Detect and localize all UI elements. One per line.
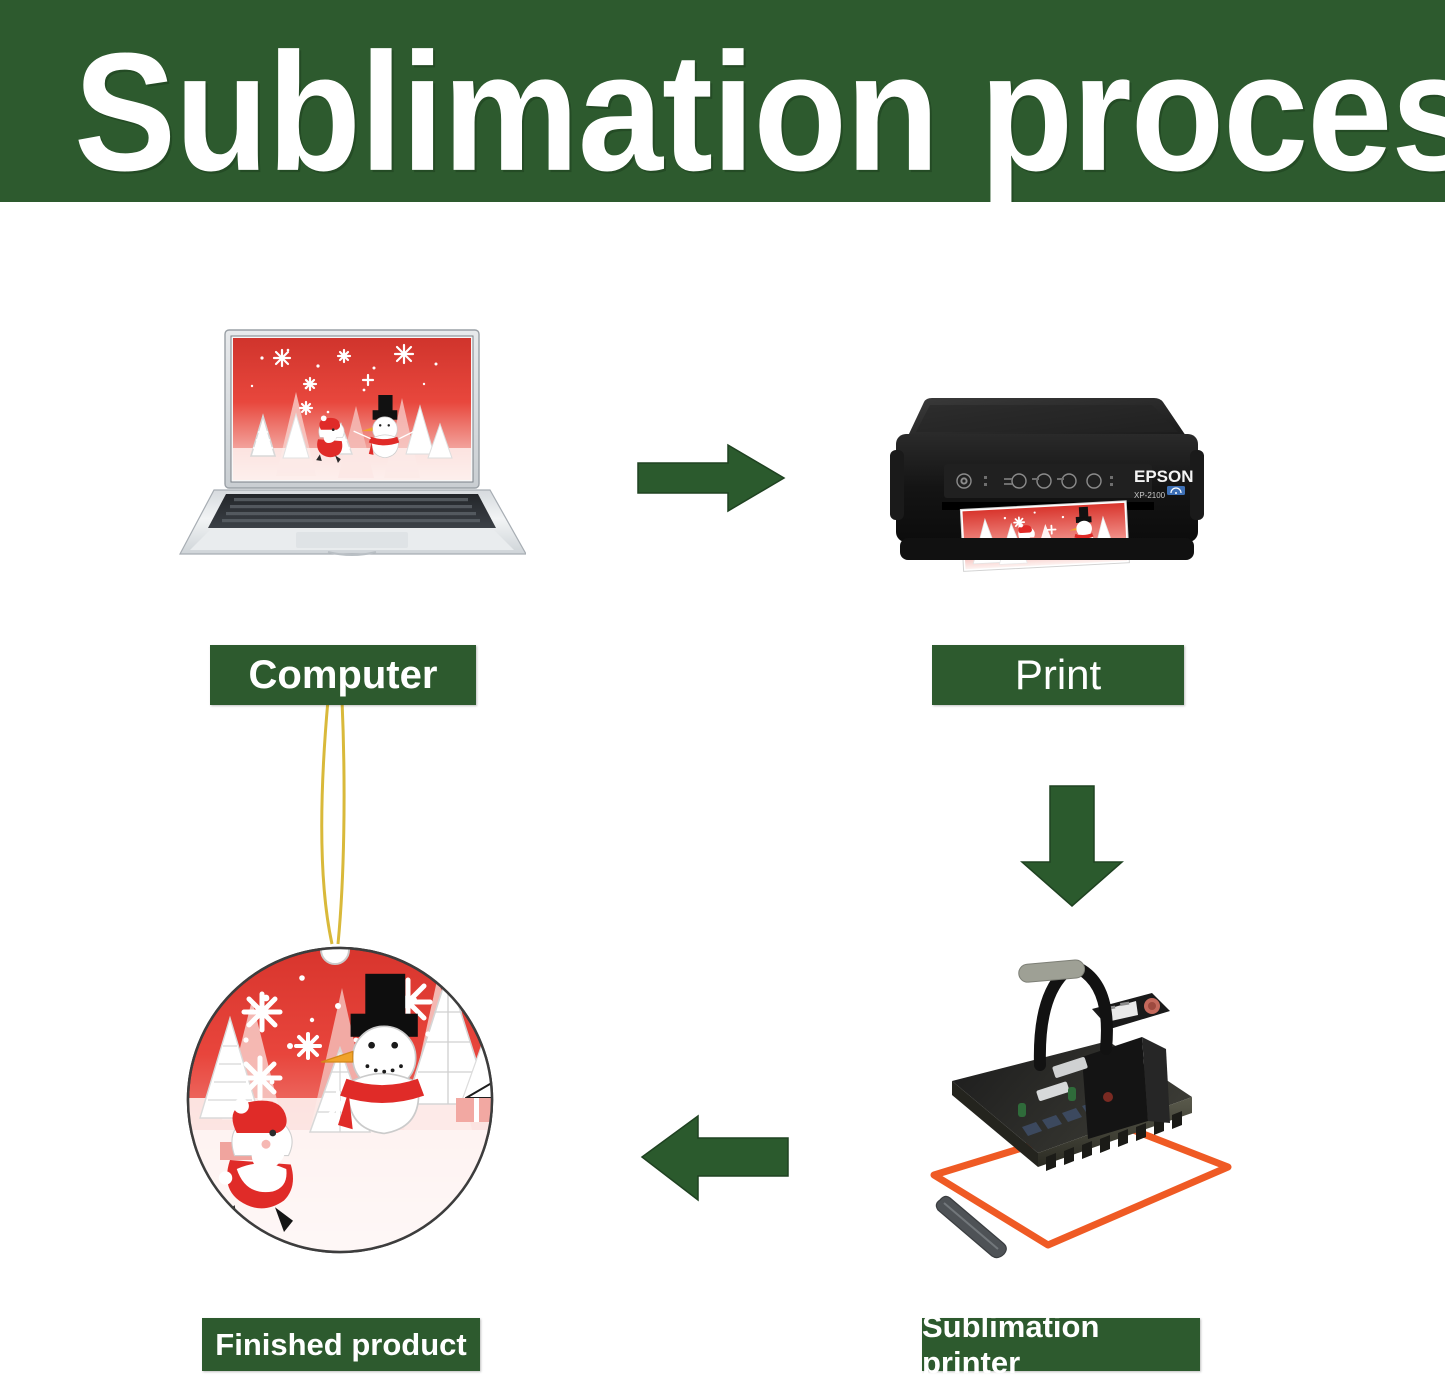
header-banner: Sublimation process bbox=[0, 0, 1445, 202]
hanging-cord bbox=[322, 700, 344, 944]
printed-sheet bbox=[960, 501, 1129, 572]
printer-icon: EPSON XP-2100 bbox=[886, 388, 1208, 586]
page-title: Sublimation process bbox=[74, 22, 1420, 201]
label-print: Print bbox=[932, 645, 1184, 705]
label-sublimation-printer-text: Sublimation printer bbox=[922, 1309, 1200, 1381]
ornament-icon bbox=[160, 700, 520, 1260]
printer-model: XP-2100 bbox=[1134, 491, 1166, 500]
printer-brand: EPSON bbox=[1134, 467, 1194, 486]
wifi-icon bbox=[1167, 486, 1185, 495]
label-finished-product: Finished product bbox=[202, 1318, 480, 1371]
label-finished-product-text: Finished product bbox=[215, 1327, 466, 1363]
arrow-right-icon bbox=[636, 443, 786, 513]
label-computer: Computer bbox=[210, 645, 476, 705]
label-sublimation-printer: Sublimation printer bbox=[922, 1318, 1200, 1371]
arrow-down-icon bbox=[1020, 784, 1124, 908]
label-print-text: Print bbox=[1015, 651, 1101, 699]
heat-press-icon bbox=[930, 945, 1240, 1275]
label-computer-text: Computer bbox=[249, 653, 438, 698]
arrow-left-icon bbox=[640, 1110, 790, 1204]
laptop-icon bbox=[178, 328, 526, 576]
